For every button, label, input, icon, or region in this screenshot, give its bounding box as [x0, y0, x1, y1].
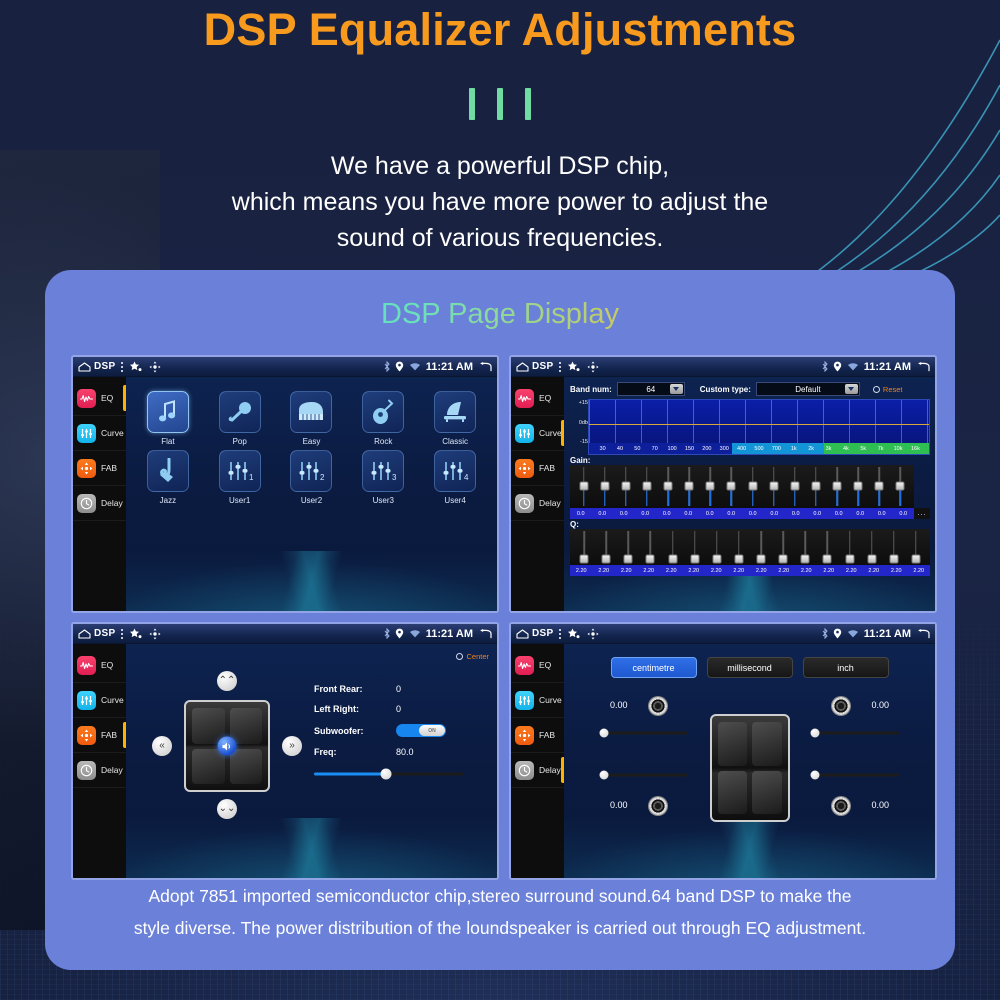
- head-unit-screen-fab: DSP 11:21 AM: [71, 622, 499, 880]
- fader[interactable]: [742, 465, 763, 508]
- back-icon[interactable]: [478, 629, 492, 639]
- fader-value: 0.0: [635, 511, 657, 517]
- fader-knob[interactable]: [712, 554, 721, 563]
- fader-value: 2.20: [570, 568, 593, 574]
- wifi-icon: [847, 629, 859, 638]
- q-label: Q:: [570, 520, 930, 529]
- overflow-menu-icon[interactable]: [559, 362, 561, 372]
- freq-tick-label: 500: [754, 446, 763, 452]
- preset-user3[interactable]: 3 User3: [352, 450, 414, 505]
- freq-tick-label: 7k: [878, 446, 884, 452]
- delay-unit-selector: centimetre millisecond inch: [564, 644, 935, 678]
- wifi-icon: [409, 629, 421, 638]
- sidebar-item-label: Delay: [101, 498, 123, 508]
- unit-button-millisecond[interactable]: millisecond: [707, 657, 793, 678]
- fader-knob[interactable]: [867, 554, 876, 563]
- fader-value: 2.20: [750, 568, 773, 574]
- sidebar-item-fab[interactable]: FAB: [511, 718, 564, 753]
- delay-slider-rear-left[interactable]: [600, 770, 688, 780]
- home-button[interactable]: DSP: [516, 361, 553, 372]
- frequency-axis: 304050701001502003004005007001k2k3k4k5k7…: [589, 443, 929, 454]
- preset-label: User2: [280, 496, 342, 505]
- microphone-icon: [219, 391, 261, 433]
- sidebar-item-fab[interactable]: FAB: [73, 451, 126, 486]
- caption-line-2: style diverse. The power distribution of…: [79, 912, 921, 944]
- balance-position-marker[interactable]: [218, 737, 237, 756]
- fader-knob[interactable]: [646, 554, 655, 563]
- y-axis-labels: +15 0db -15: [570, 399, 588, 455]
- bluetooth-icon: [384, 628, 390, 639]
- fader-value: 2.20: [863, 568, 886, 574]
- home-button[interactable]: DSP: [78, 361, 115, 372]
- back-icon[interactable]: [478, 362, 492, 372]
- speaker-rear-left-icon[interactable]: [648, 796, 668, 816]
- svg-text:3: 3: [392, 473, 397, 482]
- fader[interactable]: [706, 529, 728, 565]
- app-label: DSP: [94, 361, 115, 372]
- freq-tick-label: 16k: [911, 446, 920, 452]
- eq-curve-plot[interactable]: +15 0db -15 30: [570, 399, 930, 455]
- fader-knob[interactable]: [769, 481, 778, 490]
- slider-knob[interactable]: [600, 729, 609, 738]
- fader[interactable]: [772, 529, 794, 565]
- fader-value: 0.0: [699, 511, 721, 517]
- fab-content: Center: [126, 644, 497, 880]
- fader-knob[interactable]: [706, 481, 715, 490]
- y-label-mid: 0db: [570, 420, 588, 426]
- move-icon[interactable]: [587, 361, 599, 373]
- sidebar-item-label: Curve: [101, 428, 124, 438]
- seat-rear-left: [718, 771, 748, 815]
- tick-mark-1: [469, 88, 475, 120]
- band-num-select[interactable]: 64: [617, 382, 685, 396]
- sidebar-item-label: EQ: [539, 660, 551, 670]
- delay-value-front-left: 0.00: [610, 700, 628, 710]
- reset-label: Reset: [883, 385, 903, 394]
- fader[interactable]: [794, 529, 816, 565]
- freq-tick-label: 3k: [826, 446, 832, 452]
- four-arrows-icon: [77, 726, 96, 745]
- fader-knob[interactable]: [668, 554, 677, 563]
- preset-jazz[interactable]: Jazz: [137, 450, 199, 505]
- sliders-icon: [77, 424, 96, 443]
- delay-value-rear-left: 0.00: [610, 800, 628, 810]
- fader[interactable]: [827, 465, 848, 508]
- fader-knob[interactable]: [624, 554, 633, 563]
- fader-value: 0.0: [656, 511, 678, 517]
- balance-right-button[interactable]: »: [282, 736, 302, 756]
- fader[interactable]: [883, 529, 905, 565]
- freq-tick-label: 30: [600, 446, 606, 452]
- card-caption: Adopt 7851 imported semiconductor chip,s…: [45, 880, 955, 944]
- sliders-3-icon: 3: [362, 450, 404, 492]
- fader-value: 2.20: [885, 568, 908, 574]
- fader[interactable]: [721, 465, 742, 508]
- fader-knob[interactable]: [685, 481, 694, 490]
- home-icon: [78, 362, 91, 372]
- fader[interactable]: [658, 465, 679, 508]
- clock-icon: [77, 761, 96, 780]
- fader[interactable]: [700, 465, 721, 508]
- app-label: DSP: [532, 361, 553, 372]
- fader[interactable]: [805, 465, 826, 508]
- slider-knob[interactable]: [600, 771, 609, 780]
- gain-label: Gain:: [570, 456, 930, 465]
- sliders-icon: [77, 691, 96, 710]
- delay-content: centimetre millisecond inch: [564, 644, 935, 880]
- speaker-front-left-icon[interactable]: [648, 696, 668, 716]
- balance-down-button[interactable]: ⌄⌄: [217, 799, 237, 819]
- preset-label: Jazz: [137, 496, 199, 505]
- sidebar-item-label: FAB: [539, 463, 555, 473]
- home-icon: [516, 362, 529, 372]
- gain-values-strip: 0.00.00.00.00.00.00.00.00.00.00.00.00.00…: [570, 508, 914, 519]
- freq-tick-label: 70: [652, 446, 658, 452]
- saxophone-icon: [147, 450, 189, 492]
- sidebar-item-delay[interactable]: Delay: [73, 486, 126, 521]
- fader-value: 2.20: [615, 568, 638, 574]
- fader-value: 0.0: [850, 511, 872, 517]
- preset-label: Flat: [137, 437, 199, 446]
- page-title: DSP Equalizer Adjustments: [0, 0, 1000, 58]
- head-unit-screen-delay: DSP 11:21 AM: [509, 622, 937, 880]
- fader-value: 0.0: [785, 511, 807, 517]
- subwoofer-toggle[interactable]: ON: [396, 724, 446, 737]
- freq-tick-label: 200: [702, 446, 711, 452]
- freq-label: Freq:: [314, 747, 396, 757]
- fader[interactable]: [750, 529, 772, 565]
- fader-knob[interactable]: [621, 481, 630, 490]
- star-icon[interactable]: [129, 628, 143, 640]
- car-cabin-delay-diagram: [710, 714, 790, 822]
- preset-label: Rock: [352, 437, 414, 446]
- clock-label: 11:21 AM: [426, 361, 473, 373]
- fader-value: 0.0: [592, 511, 614, 517]
- car-cabin-balance-pad[interactable]: [184, 700, 270, 792]
- piano-icon: [290, 391, 332, 433]
- left-right-row: Left Right: 0: [314, 704, 489, 714]
- fader[interactable]: [639, 529, 661, 565]
- fader-value: 0.0: [742, 511, 764, 517]
- fader-knob[interactable]: [600, 481, 609, 490]
- four-arrows-icon: [515, 726, 534, 745]
- sidebar-item-delay[interactable]: Delay: [511, 753, 564, 788]
- fader-value: 2.20: [773, 568, 796, 574]
- back-icon[interactable]: [916, 629, 930, 639]
- preset-label: Pop: [209, 437, 271, 446]
- freq-tick-label: 5k: [860, 446, 866, 452]
- fader-value: 0.0: [678, 511, 700, 517]
- fader-value: 2.20: [660, 568, 683, 574]
- overflow-menu-icon[interactable]: [121, 362, 123, 372]
- fader[interactable]: [573, 529, 595, 565]
- gain-overflow-button[interactable]: ...: [914, 508, 930, 519]
- center-radio-icon: [456, 653, 463, 660]
- slider-track: [600, 732, 688, 735]
- chevron-down-icon: [845, 384, 858, 394]
- overflow-menu-icon[interactable]: [121, 629, 123, 639]
- sidebar-item-label: FAB: [539, 730, 555, 740]
- subwoofer-label: Subwoofer:: [314, 726, 396, 736]
- eq-preset-content: Flat Pop Easy: [126, 377, 497, 613]
- home-button[interactable]: DSP: [78, 628, 115, 639]
- music-note-icon: [147, 391, 189, 433]
- sidebar-item-label: Curve: [101, 695, 124, 705]
- fader-knob[interactable]: [690, 554, 699, 563]
- fader-knob[interactable]: [875, 481, 884, 490]
- clock-icon: [77, 494, 96, 513]
- fader-knob[interactable]: [642, 481, 651, 490]
- center-button[interactable]: Center: [456, 652, 489, 661]
- status-bar: DSP: [73, 357, 497, 377]
- wifi-icon: [409, 362, 421, 371]
- overflow-menu-icon[interactable]: [559, 629, 561, 639]
- fader-knob[interactable]: [790, 481, 799, 490]
- fader[interactable]: [595, 529, 617, 565]
- preset-easy[interactable]: Easy: [280, 391, 342, 446]
- sidebar-item-fab[interactable]: FAB: [73, 718, 126, 753]
- fader[interactable]: [816, 529, 838, 565]
- gain-fader-bank[interactable]: [570, 465, 914, 508]
- fader[interactable]: [839, 529, 861, 565]
- tick-separator: [0, 88, 1000, 120]
- caption-line-1: Adopt 7851 imported semiconductor chip,s…: [79, 880, 921, 912]
- fader-knob[interactable]: [823, 554, 832, 563]
- gramophone-icon: [434, 391, 476, 433]
- fader[interactable]: [617, 529, 639, 565]
- preset-pop[interactable]: Pop: [209, 391, 271, 446]
- reset-icon: [873, 386, 880, 393]
- location-icon: [395, 628, 404, 639]
- sidebar-item-label: Curve: [539, 695, 562, 705]
- fader-knob[interactable]: [664, 481, 673, 490]
- delay-value-rear-right: 0.00: [871, 800, 889, 810]
- location-icon: [833, 628, 842, 639]
- freq-tick-label: 400: [737, 446, 746, 452]
- svg-text:1: 1: [249, 473, 254, 482]
- freq-value: 80.0: [396, 747, 414, 757]
- bluetooth-icon: [384, 361, 390, 372]
- fader-knob[interactable]: [833, 481, 842, 490]
- back-icon[interactable]: [916, 362, 930, 372]
- speaker-icon: [222, 741, 233, 751]
- freq-tick-label: 100: [668, 446, 677, 452]
- sidebar-item-label: Delay: [539, 765, 561, 775]
- preset-rock[interactable]: Rock: [352, 391, 414, 446]
- dsp-sidebar: EQ Curve FAB Delay: [511, 377, 564, 613]
- fader-knob[interactable]: [757, 554, 766, 563]
- front-rear-value: 0: [396, 684, 401, 694]
- sliders-icon: [515, 424, 534, 443]
- move-icon[interactable]: [149, 628, 161, 640]
- fader[interactable]: [763, 465, 784, 508]
- delay-slider-rear-right[interactable]: [811, 770, 899, 780]
- fader[interactable]: [905, 529, 927, 565]
- fader-knob[interactable]: [734, 554, 743, 563]
- svg-text:4: 4: [464, 473, 469, 482]
- sidebar-item-curve[interactable]: Curve: [73, 683, 126, 718]
- fader[interactable]: [615, 465, 636, 508]
- seat-rear-right: [752, 771, 782, 815]
- fader-knob[interactable]: [779, 554, 788, 563]
- sidebar-item-delay[interactable]: Delay: [73, 753, 126, 788]
- move-icon[interactable]: [587, 628, 599, 640]
- slider-knob[interactable]: [811, 771, 820, 780]
- clock-label: 11:21 AM: [426, 628, 473, 640]
- waveform-icon: [77, 656, 96, 675]
- freq-tick-label: 10k: [894, 446, 903, 452]
- slider-knob[interactable]: [811, 729, 820, 738]
- speaker-front-right-icon[interactable]: [831, 696, 851, 716]
- sidebar-item-curve[interactable]: Curve: [511, 683, 564, 718]
- fader-knob[interactable]: [580, 554, 589, 563]
- preset-classic[interactable]: Classic: [424, 391, 486, 446]
- sidebar-item-curve[interactable]: Curve: [511, 416, 564, 451]
- fader-value: 0.0: [871, 511, 893, 517]
- fader-value: 0.0: [828, 511, 850, 517]
- freq-tick-label: 150: [685, 446, 694, 452]
- fader-value: 2.20: [728, 568, 751, 574]
- fader-value: 2.20: [638, 568, 661, 574]
- balance-left-button[interactable]: «: [152, 736, 172, 756]
- sidebar-item-label: EQ: [101, 393, 113, 403]
- star-icon[interactable]: [129, 361, 143, 373]
- freq-tick-label: 300: [720, 446, 729, 452]
- status-bar: DSP 11:21 AM: [73, 624, 497, 644]
- seat-front-right: [230, 708, 263, 744]
- fader-value: 2.20: [593, 568, 616, 574]
- balance-up-button[interactable]: ⌃⌃: [217, 671, 237, 691]
- car-seats: [718, 722, 782, 814]
- sliders-2-icon: 2: [290, 450, 332, 492]
- star-icon[interactable]: [567, 628, 581, 640]
- fader[interactable]: [636, 465, 657, 508]
- reset-button[interactable]: Reset: [873, 385, 903, 394]
- fader-knob[interactable]: [911, 554, 920, 563]
- fader[interactable]: [890, 465, 911, 508]
- sidebar-item-curve[interactable]: Curve: [73, 416, 126, 451]
- screenshot-grid: DSP: [71, 355, 931, 880]
- seat-rear-right: [230, 749, 263, 785]
- fader[interactable]: [784, 465, 805, 508]
- fader[interactable]: [573, 465, 594, 508]
- move-icon[interactable]: [149, 361, 161, 373]
- sidebar-item-eq[interactable]: EQ: [73, 648, 126, 683]
- custom-type-select[interactable]: Default: [756, 382, 860, 396]
- fader-value: 0.0: [807, 511, 829, 517]
- freq-tick-label: 2k: [808, 446, 814, 452]
- card-title: DSP Page Display: [45, 270, 955, 331]
- sidebar-item-eq[interactable]: EQ: [511, 648, 564, 683]
- unit-button-centimetre[interactable]: centimetre: [611, 657, 697, 678]
- preset-user2[interactable]: 2 User2: [280, 450, 342, 505]
- center-label: Center: [466, 652, 489, 661]
- freq-slider-knob[interactable]: [381, 768, 392, 779]
- svg-text:2: 2: [320, 473, 325, 482]
- dsp-sidebar: EQ Curve FAB: [73, 377, 126, 613]
- fader-knob[interactable]: [889, 554, 898, 563]
- eq-response-line: [589, 424, 929, 425]
- preset-user4[interactable]: 4 User4: [424, 450, 486, 505]
- fader[interactable]: [728, 529, 750, 565]
- fader-knob[interactable]: [801, 554, 810, 563]
- chevron-down-icon: [670, 384, 683, 394]
- freq-slider[interactable]: [314, 767, 464, 780]
- dsp-sidebar: EQ Curve FAB Delay: [73, 644, 126, 880]
- fader-knob[interactable]: [854, 481, 863, 490]
- fader-value: 0.0: [613, 511, 635, 517]
- fader[interactable]: [869, 465, 890, 508]
- sidebar-item-delay[interactable]: Delay: [511, 486, 564, 521]
- freq-slider-fill: [314, 772, 386, 775]
- star-icon[interactable]: [567, 361, 581, 373]
- fader[interactable]: [861, 529, 883, 565]
- left-right-label: Left Right:: [314, 704, 396, 714]
- fader[interactable]: [662, 529, 684, 565]
- fader-value: 2.20: [840, 568, 863, 574]
- fader-knob[interactable]: [602, 554, 611, 563]
- clock-icon: [515, 761, 534, 780]
- sidebar-item-label: EQ: [539, 393, 551, 403]
- sidebar-item-label: Delay: [539, 498, 561, 508]
- fader[interactable]: [684, 529, 706, 565]
- home-button[interactable]: DSP: [516, 628, 553, 639]
- page-subtitle: We have a powerful DSP chip, which means…: [0, 148, 1000, 256]
- sidebar-item-eq[interactable]: EQ: [73, 381, 126, 416]
- fader-knob[interactable]: [727, 481, 736, 490]
- fader[interactable]: [848, 465, 869, 508]
- y-label-top: +15: [570, 400, 588, 406]
- slider-track: [811, 774, 899, 777]
- bluetooth-icon: [822, 628, 828, 639]
- sidebar-item-eq[interactable]: EQ: [511, 381, 564, 416]
- fader-knob[interactable]: [579, 481, 588, 490]
- fader-knob[interactable]: [896, 481, 905, 490]
- app-label: DSP: [532, 628, 553, 639]
- sidebar-item-fab[interactable]: FAB: [511, 451, 564, 486]
- fader-value: 0.0: [721, 511, 743, 517]
- fader-value: 2.20: [818, 568, 841, 574]
- home-icon: [516, 629, 529, 639]
- unit-button-inch[interactable]: inch: [803, 657, 889, 678]
- band-num-value: 64: [646, 385, 655, 394]
- subwoofer-row: Subwoofer: ON: [314, 724, 489, 737]
- preset-flat[interactable]: Flat: [137, 391, 199, 446]
- freq-tick-label: 4k: [843, 446, 849, 452]
- tick-mark-3: [525, 88, 531, 120]
- head-unit-screen-curve: DSP 11:21 AM: [509, 355, 937, 613]
- delay-slider-front-left[interactable]: [600, 728, 688, 738]
- preset-label: User1: [209, 496, 271, 505]
- fader-knob[interactable]: [845, 554, 854, 563]
- fader-knob[interactable]: [748, 481, 757, 490]
- tick-mark-2: [497, 88, 503, 120]
- bluetooth-icon: [822, 361, 828, 372]
- custom-type-value: Default: [795, 385, 820, 394]
- fader-value: 2.20: [683, 568, 706, 574]
- plot-area[interactable]: 304050701001502003004005007001k2k3k4k5k7…: [588, 399, 930, 455]
- freq-tick-label: 50: [634, 446, 640, 452]
- fader[interactable]: [679, 465, 700, 508]
- speaker-rear-right-icon[interactable]: [831, 796, 851, 816]
- fader-knob[interactable]: [811, 481, 820, 490]
- q-fader-bank[interactable]: [570, 529, 930, 565]
- dsp-sidebar: EQ Curve FAB Delay: [511, 644, 564, 880]
- delay-slider-front-right[interactable]: [811, 728, 899, 738]
- fader-value: 2.20: [705, 568, 728, 574]
- preset-user1[interactable]: 1 User1: [209, 450, 271, 505]
- fader[interactable]: [594, 465, 615, 508]
